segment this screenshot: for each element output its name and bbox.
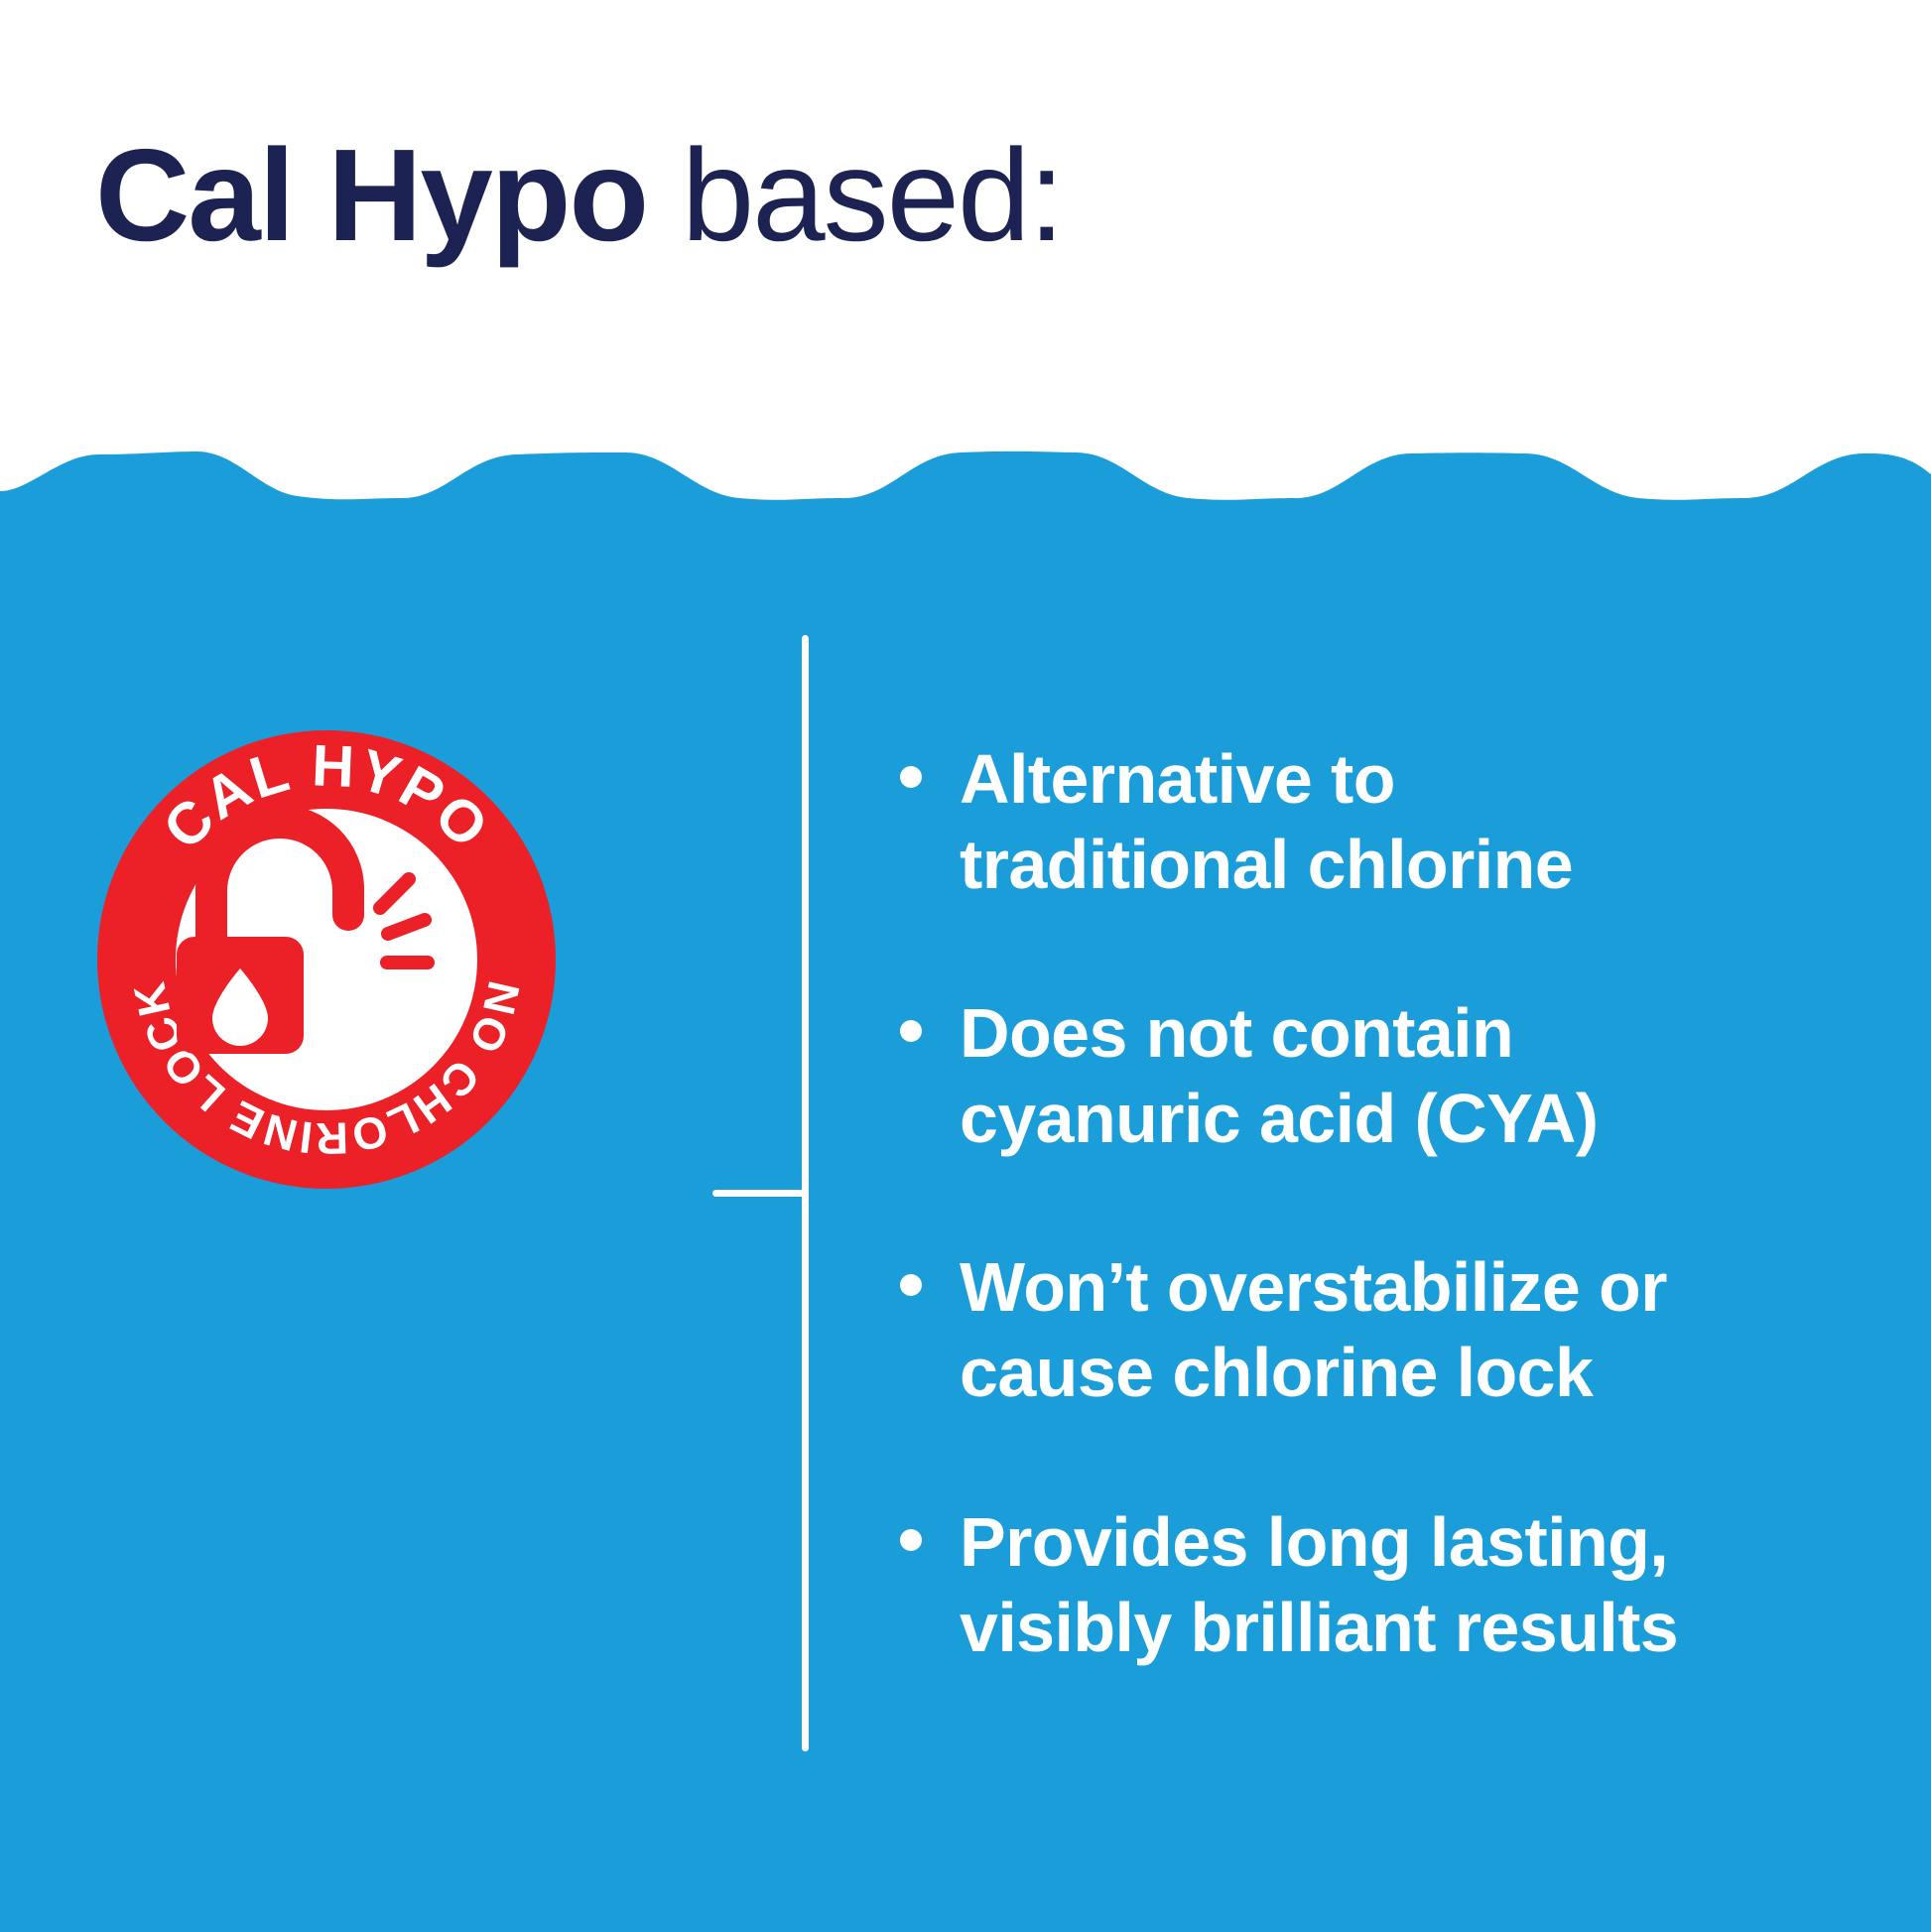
bullet-dot-icon [900, 766, 922, 788]
page-title: Cal Hypo based: [95, 127, 1063, 265]
bullet-dot-icon [900, 1529, 922, 1551]
list-item: Alternative to traditional chlorine [898, 736, 1692, 907]
bullet-dot-icon [900, 1020, 922, 1042]
page-title-regular: based: [647, 122, 1063, 268]
list-item: Does not contain cyanuric acid (CYA) [898, 990, 1692, 1161]
list-item-label: Provides long lasting, visibly brilliant… [960, 1499, 1692, 1670]
list-item: Provides long lasting, visibly brilliant… [898, 1499, 1692, 1670]
connector-horizontal-line [712, 1190, 806, 1197]
bullet-dot-icon [900, 1274, 922, 1296]
page-title-bold: Cal Hypo [95, 122, 647, 268]
list-item-label: Does not contain cyanuric acid (CYA) [960, 990, 1692, 1161]
list-item-label: Alternative to traditional chlorine [960, 736, 1692, 907]
header-section: Cal Hypo based: [0, 0, 1931, 456]
list-item: Won’t overstabilize or cause chlorine lo… [898, 1244, 1692, 1415]
benefits-bullet-list: Alternative to traditional chlorine Does… [898, 736, 1692, 1670]
list-item-label: Won’t overstabilize or cause chlorine lo… [960, 1244, 1692, 1415]
cal-hypo-badge: CAL HYPO NO CHLORINE LOCK [97, 730, 556, 1189]
